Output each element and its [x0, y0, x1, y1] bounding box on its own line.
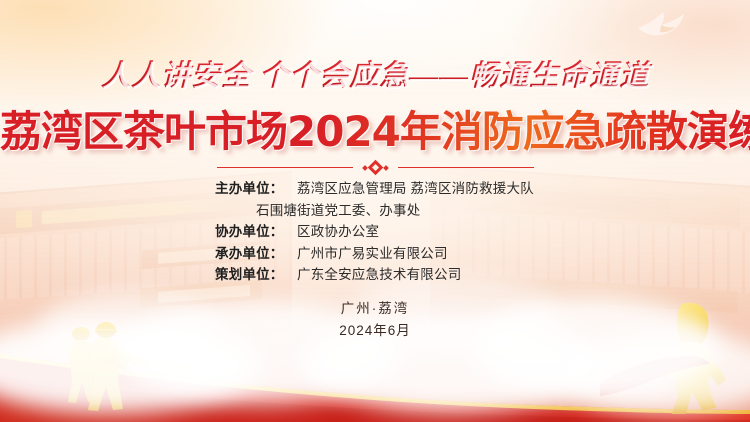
organizer-list: 主办单位： 荔湾区应急管理局 荔湾区消防救援大队 石围塘街道党工委、办事处 协办… — [0, 178, 750, 286]
organizer-row: 策划单位： 广东全安应急技术有限公司 — [215, 264, 535, 286]
poster-canvas: 人人讲安全 个个会应急——畅通生命通道 荔湾区茶叶市场2024年消防应急疏散演练… — [0, 0, 750, 422]
organizer-row: 承办单位： 广州市广易实业有限公司 — [215, 243, 535, 265]
organizer-label: 承办单位： — [215, 243, 297, 265]
divider-dot — [383, 165, 389, 171]
organizer-row: 协办单位： 区政协办公室 — [215, 221, 535, 243]
organizer-label: 主办单位： — [215, 178, 297, 200]
divider-diamond — [367, 160, 383, 176]
organizer-label: 策划单位： — [215, 264, 297, 286]
organizer-value: 荔湾区应急管理局 荔湾区消防救援大队 — [297, 178, 534, 200]
place-and-date: 广州·荔湾 2024年6月 — [0, 298, 750, 342]
organizer-value: 区政协办公室 — [297, 221, 379, 243]
organizer-value: 广州市广易实业有限公司 — [297, 243, 448, 265]
place-text: 广州·荔湾 — [0, 298, 750, 320]
diamond-ornament-icon — [363, 162, 388, 173]
divider-line-left — [217, 167, 353, 169]
poster-slogan: 人人讲安全 个个会应急——畅通生命通道 — [0, 52, 750, 94]
divider-dot — [362, 165, 368, 171]
poster-title: 荔湾区茶叶市场2024年消防应急疏散演练 — [0, 98, 750, 159]
organizer-row: 主办单位： 荔湾区应急管理局 荔湾区消防救援大队 — [215, 178, 535, 200]
organizer-continuation: 石围塘街道党工委、办事处 — [174, 200, 576, 222]
decorative-divider — [0, 162, 750, 173]
organizer-value: 广东全安应急技术有限公司 — [297, 264, 461, 286]
organizer-label: 协办单位： — [215, 221, 297, 243]
poster-content: 人人讲安全 个个会应急——畅通生命通道 荔湾区茶叶市场2024年消防应急疏散演练… — [0, 0, 750, 422]
divider-line-right — [398, 167, 534, 169]
date-text: 2024年6月 — [0, 320, 750, 342]
